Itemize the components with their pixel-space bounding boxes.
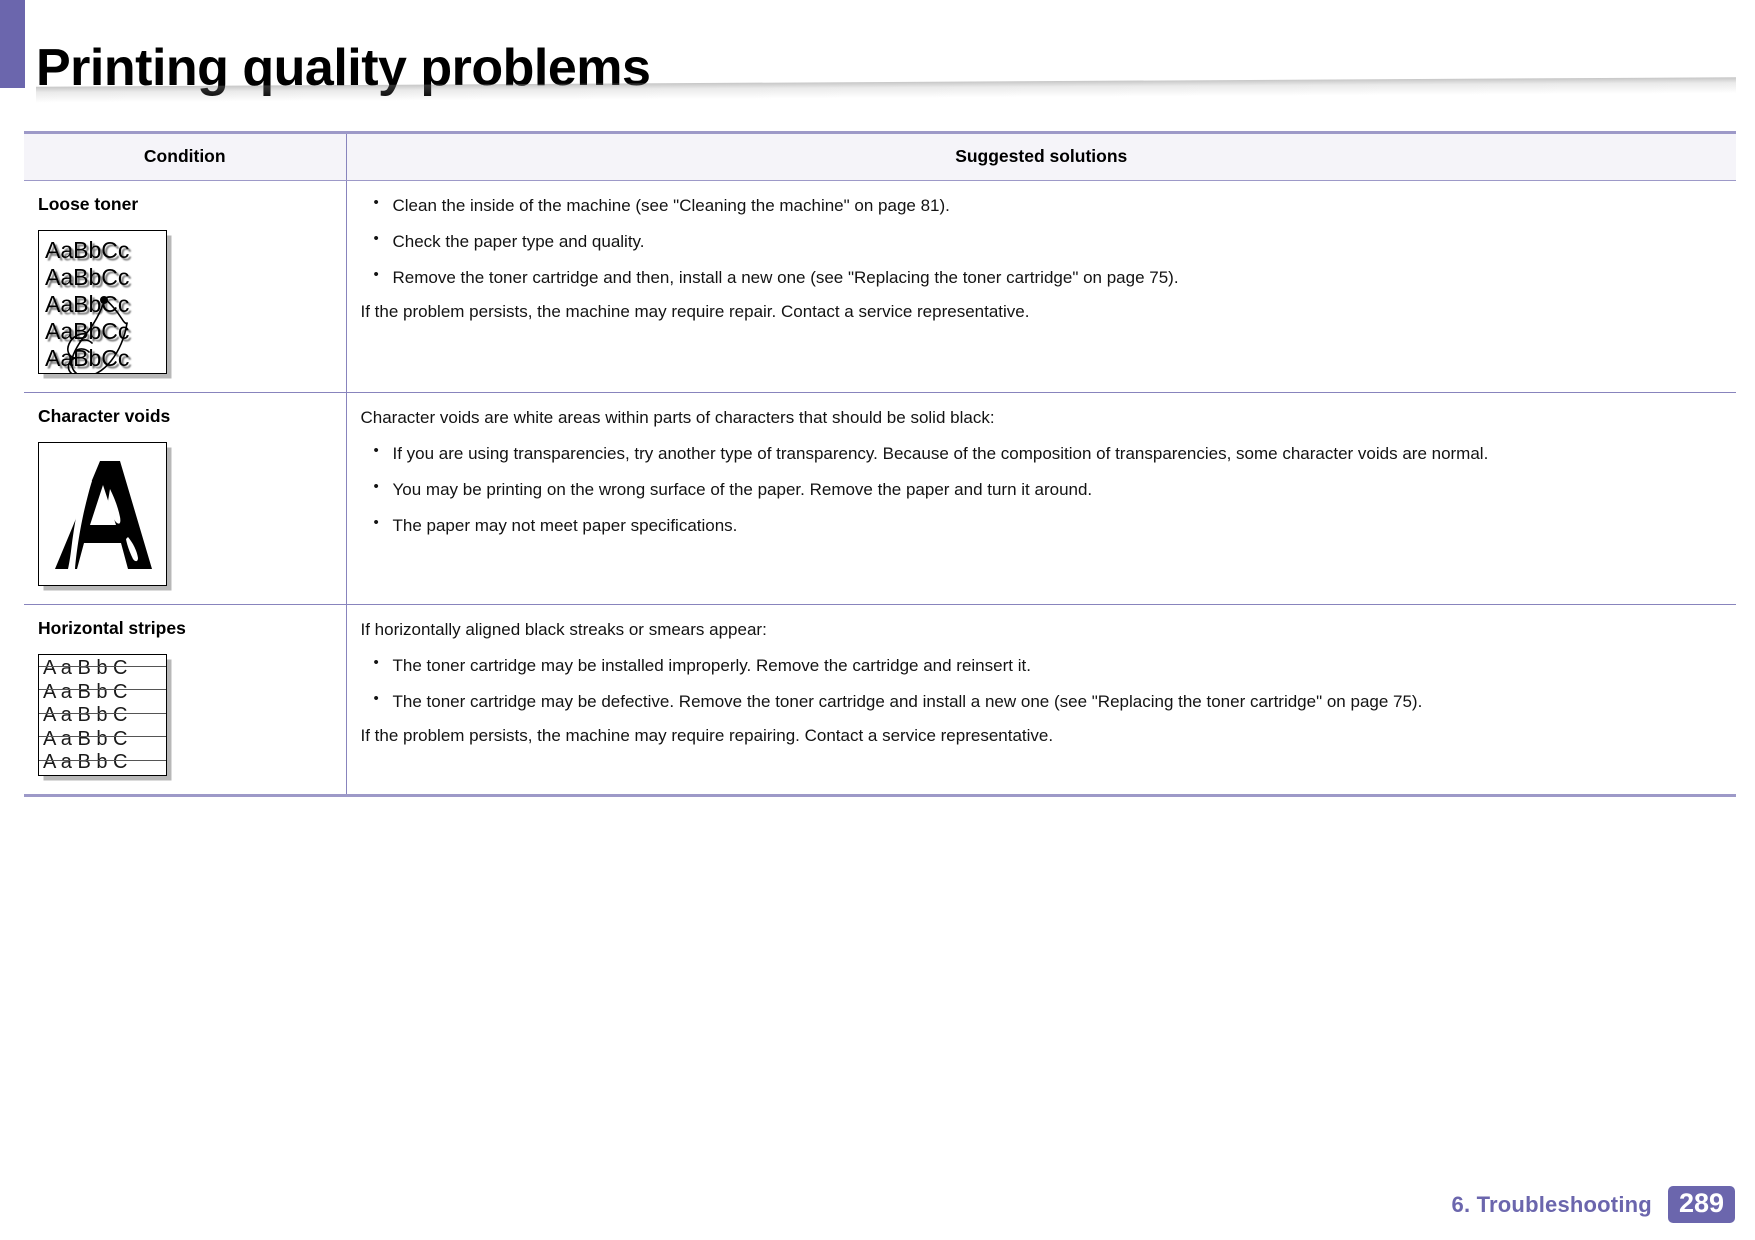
solutions-cell-loose-toner: Clean the inside of the machine (see "Cl… (346, 181, 1736, 393)
solution-bullet: Clean the inside of the machine (see "Cl… (361, 194, 1737, 218)
sample-text-lines: A a B b C A a B b C A a B b C A a B b C … (43, 657, 128, 775)
table-row: Horizontal stripes A a B b C A a B b C A… (24, 605, 1736, 796)
character-voids-sample-image (38, 442, 167, 586)
condition-cell-character-voids: Character voids (24, 393, 346, 605)
solution-bullet: The toner cartridge may be defective. Re… (361, 690, 1737, 714)
sample-text-lines: AaBbCc AaBbCc AaBbCc AaBbCc AaBbCc (45, 237, 129, 372)
solution-bullet: If you are using transparencies, try ano… (361, 442, 1737, 466)
loose-toner-sample-image: AaBbCc AaBbCc AaBbCc AaBbCc AaBbCc (38, 230, 167, 374)
letter-a-with-voids-icon (48, 451, 158, 576)
condition-label: Horizontal stripes (38, 618, 346, 639)
sample-line: A a B b C (43, 704, 128, 728)
printing-quality-problems-table: Condition Suggested solutions Loose tone… (24, 131, 1736, 797)
condition-cell-loose-toner: Loose toner AaBbCc AaBbCc AaBbCc AaBbCc … (24, 181, 346, 393)
page-footer: 6. Troubleshooting 289 (1452, 1186, 1735, 1223)
solution-bullet: The paper may not meet paper specificati… (361, 514, 1737, 538)
sample-line: AaBbCc (45, 237, 129, 264)
sample-line: AaBbCc (45, 264, 129, 291)
footer-chapter-label: 6. Troubleshooting (1452, 1192, 1652, 1218)
solution-intro: If horizontally aligned black streaks or… (361, 618, 1737, 642)
solution-note: If the problem persists, the machine may… (361, 300, 1737, 324)
footer-page-number: 289 (1668, 1186, 1735, 1223)
column-header-condition: Condition (24, 133, 346, 181)
solutions-cell-horizontal-stripes: If horizontally aligned black streaks or… (346, 605, 1736, 796)
solution-bullet-list: Clean the inside of the machine (see "Cl… (361, 194, 1737, 290)
header-accent-bar (0, 0, 25, 88)
solution-bullet: The toner cartridge may be installed imp… (361, 654, 1737, 678)
table-row: Loose toner AaBbCc AaBbCc AaBbCc AaBbCc … (24, 181, 1736, 393)
table-row: Character voids Character voids are whit… (24, 393, 1736, 605)
condition-label: Loose toner (38, 194, 346, 215)
solution-bullet: You may be printing on the wrong surface… (361, 478, 1737, 502)
sample-line: AaBbCc (45, 291, 129, 318)
solution-bullet-list: If you are using transparencies, try ano… (361, 442, 1737, 538)
solution-note: If the problem persists, the machine may… (361, 724, 1737, 748)
sample-line: A a B b C (43, 657, 128, 681)
sample-line: A a B b C (43, 681, 128, 705)
table-header-row: Condition Suggested solutions (24, 133, 1736, 181)
solution-bullet: Check the paper type and quality. (361, 230, 1737, 254)
sample-line: AaBbCc (45, 345, 129, 372)
column-header-suggested-solutions: Suggested solutions (346, 133, 1736, 181)
solution-bullet: Remove the toner cartridge and then, ins… (361, 266, 1737, 290)
sample-line: AaBbCc (45, 318, 129, 345)
sample-line: A a B b C (43, 751, 128, 775)
condition-label: Character voids (38, 406, 346, 427)
solution-bullet-list: The toner cartridge may be installed imp… (361, 654, 1737, 714)
solutions-cell-character-voids: Character voids are white areas within p… (346, 393, 1736, 605)
condition-cell-horizontal-stripes: Horizontal stripes A a B b C A a B b C A… (24, 605, 346, 796)
horizontal-stripes-sample-image: A a B b C A a B b C A a B b C A a B b C … (38, 654, 167, 776)
solution-intro: Character voids are white areas within p… (361, 406, 1737, 430)
sample-line: A a B b C (43, 728, 128, 752)
